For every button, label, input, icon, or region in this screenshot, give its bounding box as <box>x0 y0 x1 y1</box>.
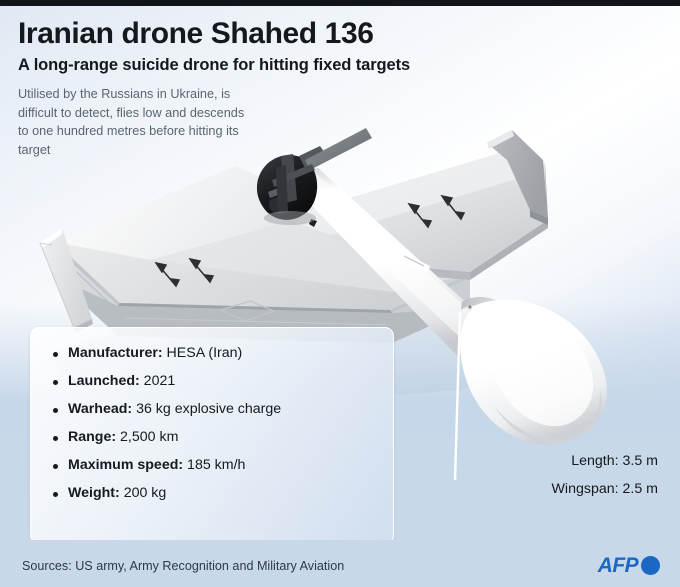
spec-label: Range: <box>68 429 116 445</box>
spec-label: Launched: <box>68 373 140 389</box>
spec-value: 2,500 km <box>116 429 178 445</box>
spec-value: 36 kg explosive charge <box>132 401 281 417</box>
afp-logo: AFP <box>598 555 660 576</box>
spec-value: 185 km/h <box>183 457 245 473</box>
spec-item-range: Range: 2,500 km <box>53 430 393 444</box>
afp-wordmark: AFP <box>598 555 638 576</box>
spec-item-warhead: Warhead: 36 kg explosive charge <box>53 402 393 416</box>
specifications-list: Manufacturer: HESA (Iran) Launched: 2021… <box>31 328 393 500</box>
spec-label: Warhead: <box>68 401 132 417</box>
spec-value: 2021 <box>140 373 176 389</box>
spec-value: 200 kg <box>120 485 167 501</box>
dimension-length: Length: 3.5 m <box>418 454 658 468</box>
spec-item-maximum-speed: Maximum speed: 185 km/h <box>53 458 393 472</box>
description-text: Utilised by the Russians in Ukraine, is … <box>18 85 258 159</box>
page-title: Iranian drone Shahed 136 <box>18 18 538 50</box>
spec-item-manufacturer: Manufacturer: HESA (Iran) <box>53 346 393 360</box>
dimension-wingspan: Wingspan: 2.5 m <box>418 482 658 496</box>
sources-text: Sources: US army, Army Recognition and M… <box>22 559 344 573</box>
afp-dot-icon <box>641 556 660 575</box>
spec-item-launched: Launched: 2021 <box>53 374 393 388</box>
spec-label: Manufacturer: <box>68 345 163 361</box>
page-subtitle: A long-range suicide drone for hitting f… <box>18 56 538 75</box>
infographic-page: Iranian drone Shahed 136 A long-range su… <box>0 0 680 587</box>
spec-value: HESA (Iran) <box>163 345 243 361</box>
spec-label: Maximum speed: <box>68 457 183 473</box>
top-rule <box>0 0 680 6</box>
specifications-panel: Manufacturer: HESA (Iran) Launched: 2021… <box>30 327 394 544</box>
spec-item-weight: Weight: 200 kg <box>53 486 393 500</box>
dimensions-block: Length: 3.5 m Wingspan: 2.5 m <box>418 454 658 510</box>
header-block: Iranian drone Shahed 136 A long-range su… <box>18 18 538 159</box>
spec-label: Weight: <box>68 485 120 501</box>
